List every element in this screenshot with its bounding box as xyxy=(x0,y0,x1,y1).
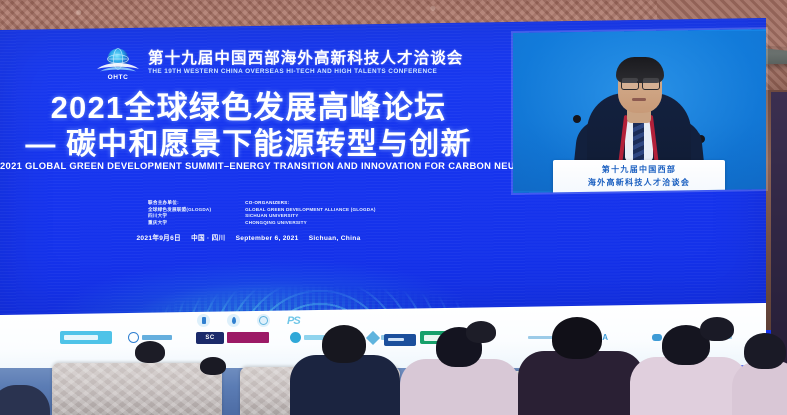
sponsor-logo xyxy=(384,333,416,346)
organizer-line-cn: 重庆大学 xyxy=(148,220,211,227)
sponsor-logo-mark xyxy=(384,333,416,345)
sponsor-mini-icon-row: PS xyxy=(197,314,300,327)
audience-chair xyxy=(52,363,222,415)
organizer-block: 联合主办单位: 全球绿色发展联盟(GLOGDA) 四川大学 重庆大学 CO-OR… xyxy=(148,200,376,226)
sponsor-logo-mark xyxy=(290,332,301,343)
sponsor-logo-mark: SC xyxy=(196,331,224,343)
speaker-mouth xyxy=(632,98,646,101)
lockup-english: THE 19TH WESTERN CHINA OVERSEAS HI-TECH … xyxy=(148,69,463,75)
slide-title-line-2: — 碳中和愿景下能源转型与创新 xyxy=(0,119,497,163)
podium-sign-line-1: 第十九届中国西部 xyxy=(553,164,725,175)
audience-head xyxy=(744,333,786,369)
eyeglasses-right-lens-icon xyxy=(642,77,660,90)
bottle-icon xyxy=(197,314,210,327)
audience-head xyxy=(135,341,165,363)
audience-head xyxy=(200,357,226,375)
sponsor-logo-wordmark xyxy=(227,332,269,343)
podium-sign-line-2: 海外高新科技人才洽谈会 xyxy=(553,177,725,188)
ohtc-globe-icon: OHTC xyxy=(95,46,141,80)
ohtc-logo-label: OHTC xyxy=(95,74,141,81)
audience-head xyxy=(552,317,602,359)
audience-head xyxy=(700,317,734,341)
slide-title-english: 2021 GLOBAL GREEN DEVELOPMENT SUMMIT–ENE… xyxy=(0,160,497,171)
lockup-text: 第十九届中国西部海外高新科技人才洽谈会 THE 19TH WESTERN CHI… xyxy=(148,51,463,76)
audience-head xyxy=(466,321,496,343)
sponsor-logo-mark xyxy=(366,330,380,344)
sponsor-logo-wordmark xyxy=(142,335,172,340)
sponsor-logo-row: SC xyxy=(0,331,766,355)
globe-icon xyxy=(257,314,270,327)
speaker-video-content: 第十九届中国西部 海外高新科技人才洽谈会 THE 19TH WESTERN CH… xyxy=(513,31,766,191)
sponsor-logo: SC xyxy=(196,331,269,344)
sponsor-logo xyxy=(652,331,662,344)
speaker-video-panel: 第十九届中国西部 海外高新科技人才洽谈会 THE 19TH WESTERN CH… xyxy=(513,29,766,193)
organizer-line-en: CHONGQING UNIVERSITY xyxy=(245,220,375,227)
audience-torso xyxy=(518,351,644,415)
audience-torso xyxy=(732,361,787,415)
sponsor-logo-mark xyxy=(60,331,112,344)
ps-brand-mark: PS xyxy=(287,314,300,326)
podium-sign: 第十九届中国西部 海外高新科技人才洽谈会 THE 19TH WESTERN CH… xyxy=(553,160,725,193)
organizer-column-english: CO-ORGANIZERS: GLOBAL GREEN DEVELOPMENT … xyxy=(245,200,375,226)
eyeglasses-left-lens-icon xyxy=(621,77,639,90)
droplet-icon xyxy=(227,314,240,327)
audience-torso xyxy=(630,357,748,415)
conference-photo: OHTC 第十九届中国西部海外高新科技人才洽谈会 THE 19TH WESTER… xyxy=(0,0,787,415)
audience-torso xyxy=(400,359,520,415)
conference-lockup: OHTC 第十九届中国西部海外高新科技人才洽谈会 THE 19TH WESTER… xyxy=(95,46,463,80)
eyeglasses-bridge-icon xyxy=(637,81,642,83)
microphone-left-head-icon xyxy=(573,115,581,123)
audience-torso xyxy=(290,355,400,415)
sponsor-logo-mark xyxy=(652,334,662,341)
sponsor-logo xyxy=(60,331,112,344)
sponsor-logo-mark xyxy=(128,332,139,343)
audience-head xyxy=(322,325,366,363)
organizer-column-chinese: 联合主办单位: 全球绿色发展联盟(GLOGDA) 四川大学 重庆大学 xyxy=(148,200,211,226)
lockup-chinese: 第十九届中国西部海外高新科技人才洽谈会 xyxy=(148,51,463,67)
